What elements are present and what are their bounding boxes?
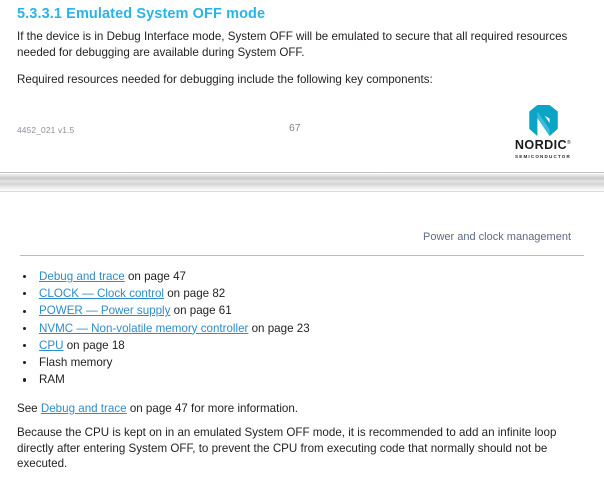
list-item-text: RAM xyxy=(39,373,65,386)
page-lower-fragment: Power and clock management Debug and tra… xyxy=(0,192,604,480)
section-heading: 5.3.3.1 Emulated System OFF mode xyxy=(17,6,265,22)
running-header-title: Power and clock management xyxy=(423,231,571,243)
list-item-text: on page 23 xyxy=(248,322,309,335)
list-item: CLOCK — Clock control on page 82 xyxy=(0,285,604,302)
list-item: POWER — Power supply on page 61 xyxy=(0,302,604,319)
bullet-dot-icon xyxy=(23,310,26,313)
cross-reference-link[interactable]: POWER — Power supply xyxy=(39,304,170,317)
nordic-logo: NORDIC® SEMICONDUCTOR xyxy=(502,105,584,160)
list-item-text: on page 18 xyxy=(63,339,124,352)
see-also-paragraph: See Debug and trace on page 47 for more … xyxy=(17,401,587,417)
cross-reference-link[interactable]: Debug and trace xyxy=(39,270,125,283)
cross-reference-link[interactable]: CPU xyxy=(39,339,63,352)
page-break-separator xyxy=(0,172,604,192)
list-item: Debug and trace on page 47 xyxy=(0,268,604,285)
bullet-dot-icon xyxy=(23,361,26,364)
list-item-text: on page 61 xyxy=(170,304,231,317)
see-also-suffix: on page 47 for more information. xyxy=(127,402,298,415)
header-divider xyxy=(20,255,584,256)
see-also-prefix: See xyxy=(17,402,41,415)
list-item-text: on page 47 xyxy=(125,270,186,283)
registered-mark-icon: ® xyxy=(567,140,571,146)
bullet-dot-icon xyxy=(23,344,26,347)
bullet-dot-icon xyxy=(23,292,26,295)
bullet-dot-icon xyxy=(23,275,26,278)
footer-page-number: 67 xyxy=(289,123,301,134)
closing-paragraph: Because the CPU is kept on in an emulate… xyxy=(17,425,587,472)
list-item: RAM xyxy=(0,371,604,388)
list-item-text: Flash memory xyxy=(39,356,112,369)
cross-reference-list: Debug and trace on page 47 CLOCK — Clock… xyxy=(0,268,604,388)
page-upper-fragment: 5.3.3.1 Emulated System OFF mode If the … xyxy=(0,0,604,172)
nordic-logo-tagline: SEMICONDUCTOR xyxy=(502,154,584,160)
cross-reference-link[interactable]: CLOCK — Clock control xyxy=(39,287,164,300)
nordic-n-mark-icon xyxy=(527,105,560,136)
body-paragraph-2: Required resources needed for debugging … xyxy=(17,72,583,88)
see-also-link[interactable]: Debug and trace xyxy=(41,402,127,415)
footer-document-id: 4452_021 v1.5 xyxy=(17,125,74,135)
nordic-logo-wordmark: NORDIC® xyxy=(515,137,571,152)
list-item: NVMC — Non-volatile memory controller on… xyxy=(0,320,604,337)
nordic-logo-word-text: NORDIC xyxy=(515,138,567,152)
list-item: Flash memory xyxy=(0,354,604,371)
bullet-dot-icon xyxy=(23,327,26,330)
list-item-text: on page 82 xyxy=(164,287,225,300)
list-item: CPU on page 18 xyxy=(0,337,604,354)
document-page-view: 5.3.3.1 Emulated System OFF mode If the … xyxy=(0,0,604,172)
cross-reference-link[interactable]: NVMC — Non-volatile memory controller xyxy=(39,322,248,335)
page-footer: 4452_021 v1.5 67 NORDIC® SEMICONDUCTOR xyxy=(0,118,604,168)
bullet-dot-icon xyxy=(23,378,26,381)
body-paragraph-1: If the device is in Debug Interface mode… xyxy=(17,29,583,60)
